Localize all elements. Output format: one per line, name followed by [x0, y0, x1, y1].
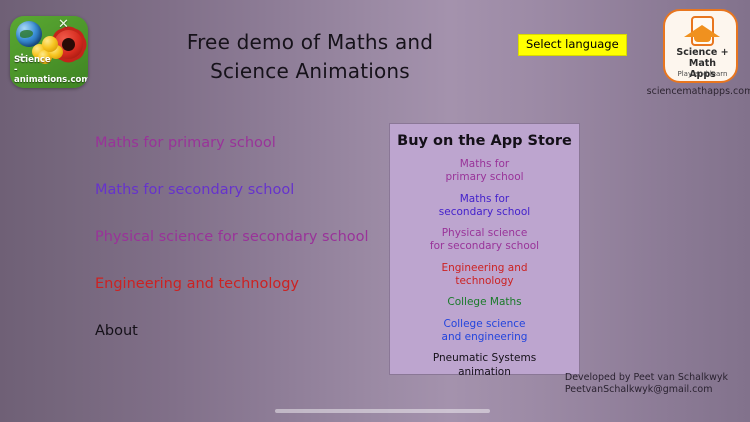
app-store-list: Maths for primary schoolMaths for second… [390, 158, 579, 379]
brand-url: sciencemathapps.com [630, 86, 750, 97]
app-store-item-0[interactable]: Maths for primary school [390, 158, 579, 185]
brand-title-line1: Science + Math [665, 47, 738, 69]
app-store-item-2[interactable]: Physical science for secondary school [390, 227, 579, 254]
menu-item-1[interactable]: Maths for secondary school [95, 181, 385, 199]
app-root: ✕ ÷ Science -animations.com Free demo of… [0, 0, 750, 422]
app-store-item-4[interactable]: College Maths [390, 296, 579, 309]
brand-tagline: Play and learn [665, 70, 738, 78]
menu-item-3[interactable]: Engineering and technology [95, 275, 385, 293]
sciencemathapps-logo[interactable]: Science + Math Apps Play and learn [663, 9, 738, 83]
app-icon-caption-line1: Science [14, 55, 88, 65]
app-store-item-5[interactable]: College science and engineering [390, 318, 579, 345]
developer-email: PeetvanSchalkwyk@gmail.com [565, 384, 728, 396]
page-title: Free demo of Maths and Science Animation… [110, 28, 510, 86]
science-animations-app-icon[interactable]: ✕ ÷ Science -animations.com [10, 16, 88, 88]
app-store-heading: Buy on the App Store [390, 133, 579, 150]
main-menu: Maths for primary schoolMaths for second… [95, 134, 385, 340]
app-store-item-3[interactable]: Engineering and technology [390, 262, 579, 289]
developer-name: Developed by Peet van Schalkwyk [565, 372, 728, 384]
graduation-cap-base-icon [694, 36, 711, 42]
page-title-line2: Science Animations [110, 57, 510, 86]
app-store-panel: Buy on the App Store Maths for primary s… [389, 123, 580, 375]
app-store-item-1[interactable]: Maths for secondary school [390, 193, 579, 220]
app-store-item-6[interactable]: Pneumatic Systems animation [390, 352, 579, 379]
developer-credit: Developed by Peet van Schalkwyk PeetvanS… [565, 372, 728, 396]
page-title-line1: Free demo of Maths and [110, 28, 510, 57]
app-icon-caption: Science -animations.com [10, 55, 88, 85]
app-icon-caption-line2: -animations.com [14, 65, 88, 85]
menu-item-4[interactable]: About [95, 322, 385, 340]
menu-item-2[interactable]: Physical science for secondary school [95, 228, 385, 246]
select-language-button[interactable]: Select language [518, 34, 627, 56]
plus-icon: ✕ [58, 18, 69, 31]
menu-item-0[interactable]: Maths for primary school [95, 134, 385, 152]
home-indicator[interactable] [275, 409, 490, 413]
